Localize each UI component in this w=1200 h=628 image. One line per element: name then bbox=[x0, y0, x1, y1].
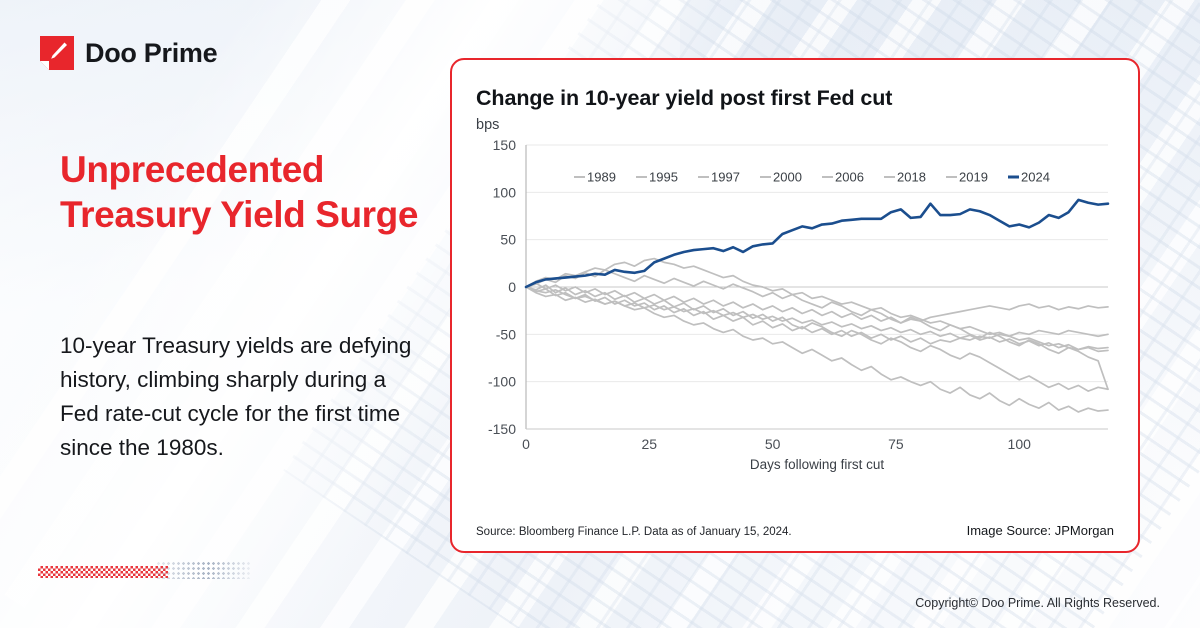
legend-label: 2019 bbox=[959, 170, 988, 185]
x-axis-tick-label: 50 bbox=[765, 436, 781, 452]
legend-label: 1989 bbox=[587, 170, 616, 185]
legend-item-2000[interactable]: 2000 bbox=[760, 170, 802, 185]
legend-item-2018[interactable]: 2018 bbox=[884, 170, 926, 185]
y-axis-tick-label: 100 bbox=[493, 184, 517, 200]
chart-footer: Source: Bloomberg Finance L.P. Data as o… bbox=[476, 523, 1114, 538]
x-axis-tick-label: 75 bbox=[888, 436, 904, 452]
legend-label: 2000 bbox=[773, 170, 802, 185]
legend-item-2019[interactable]: 2019 bbox=[946, 170, 988, 185]
brand-name: Doo Prime bbox=[85, 40, 217, 67]
halftone-gray-dots bbox=[156, 561, 250, 579]
legend-item-1997[interactable]: 1997 bbox=[698, 170, 740, 185]
halftone-red-bar bbox=[38, 566, 168, 578]
body-copy: 10-year Treasury yields are defying hist… bbox=[60, 329, 415, 466]
x-axis-tick-label: 0 bbox=[522, 436, 530, 452]
legend-item-2006[interactable]: 2006 bbox=[822, 170, 864, 185]
image-source-note: Image Source: JPMorgan bbox=[967, 523, 1114, 538]
legend-item-1995[interactable]: 1995 bbox=[636, 170, 678, 185]
poster-canvas: Doo Prime Unprecedented Treasury Yield S… bbox=[0, 0, 1200, 628]
legend-label: 2006 bbox=[835, 170, 864, 185]
background-tint-left bbox=[0, 0, 480, 628]
x-axis-tick-label: 25 bbox=[642, 436, 658, 452]
decorative-halftone-bar bbox=[38, 560, 250, 582]
x-axis-tick-label: 100 bbox=[1008, 436, 1032, 452]
x-axis-title: Days following first cut bbox=[750, 457, 885, 472]
legend-label: 1997 bbox=[711, 170, 740, 185]
chart-title: Change in 10-year yield post first Fed c… bbox=[476, 86, 1116, 111]
y-axis-tick-label: 50 bbox=[500, 232, 516, 248]
series-line-2006 bbox=[526, 287, 1108, 344]
series-line-2018 bbox=[526, 270, 1108, 389]
legend-item-1989[interactable]: 1989 bbox=[574, 170, 616, 185]
chart-card: Change in 10-year yield post first Fed c… bbox=[450, 58, 1140, 553]
legend-label: 2024 bbox=[1021, 170, 1050, 185]
legend-item-2024[interactable]: 2024 bbox=[1008, 170, 1050, 185]
legend-label: 1995 bbox=[649, 170, 678, 185]
doo-prime-mark-icon bbox=[40, 36, 74, 70]
y-axis-tick-label: -100 bbox=[488, 374, 516, 390]
legend-label: 2018 bbox=[897, 170, 926, 185]
y-axis-tick-label: -150 bbox=[488, 421, 516, 437]
headline: Unprecedented Treasury Yield Surge bbox=[60, 147, 430, 238]
y-axis-tick-label: 150 bbox=[493, 137, 517, 153]
copyright-notice: Copyright© Doo Prime. All Rights Reserve… bbox=[915, 596, 1160, 610]
source-note: Source: Bloomberg Finance L.P. Data as o… bbox=[476, 526, 792, 538]
y-axis-tick-label: -50 bbox=[496, 326, 516, 342]
y-axis-tick-label: 0 bbox=[508, 279, 516, 295]
brand-logo[interactable]: Doo Prime bbox=[40, 36, 217, 70]
chart-unit-label: bps bbox=[476, 117, 1116, 133]
line-chart: 150100500-50-100-1500255075100Days follo… bbox=[474, 135, 1120, 475]
chart-plot-area: 150100500-50-100-1500255075100Days follo… bbox=[474, 135, 1116, 475]
